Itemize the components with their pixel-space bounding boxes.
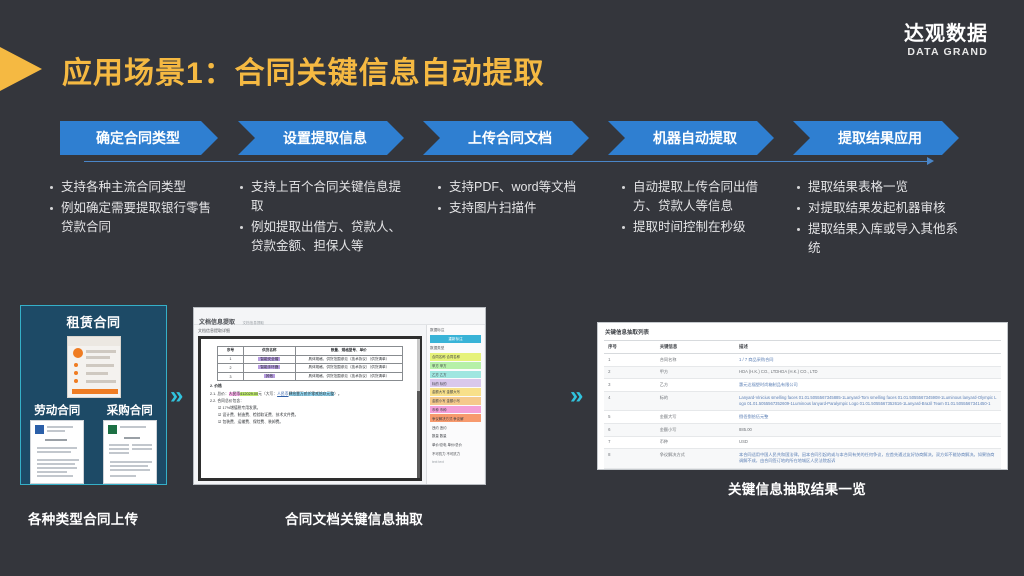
document-section-label: 文档信息提取详细	[198, 328, 422, 334]
res-cell-desc: HDA (H.K.) CO., LTDHDA (H.K.) CO., LTD	[735, 366, 1001, 379]
list-item: 支持PDF、word等文档	[436, 178, 606, 197]
logo-english: DATA GRAND	[904, 46, 988, 58]
labor-contract-thumbnail	[30, 420, 84, 484]
res-th-key: 关键信息	[656, 341, 735, 354]
document-viewer[interactable]: 文档信息提取详细 序号 供货名称 数量、规格型号、单价 1	[194, 325, 426, 485]
doc-item-3: ☑ 包装费、运输费、保险费、装卸费。	[218, 420, 411, 426]
doc-cell-no: 3	[218, 372, 244, 381]
process-axis-line	[84, 161, 929, 162]
document-goods-table: 序号 供货名称 数量、规格型号、单价 1 智能安全帽 具体规格、供货范围参见（技…	[217, 346, 403, 381]
doc-ul-currency: 人民币	[277, 392, 288, 396]
list-item: 例如确定需要提取银行零售贷款合同	[48, 199, 213, 237]
doc-cell-spec: 具体规格、供货范围参见（技术协议）（供货清单）	[295, 372, 402, 381]
doc-thumbnails	[21, 420, 166, 484]
lease-contract-label: 租赁合同	[21, 312, 166, 331]
bullet-column-5: 提取结果表格一览 对提取结果发起机器审核 提取结果入库或导入其他系统	[795, 178, 960, 260]
list-item: 支持上百个合同关键信息提取	[238, 178, 403, 216]
doc-cell-name: 智能安全帽	[243, 355, 295, 364]
res-cell-desc: USD	[735, 436, 1001, 449]
doc-price-line: 2.1. 总价：人民币412029.00元（大写：人民币肆拾壹万贰仟零贰拾玖元整…	[210, 392, 411, 398]
table-row: 3乙方惠元达福塑时尚箱制品有限公司	[604, 379, 1001, 392]
document-scrollbar-thumb[interactable]	[417, 339, 420, 391]
table-row: 8争议解决方式本合同适用中国人民共和国法律。因本合同引起的或与本合同有关的任何争…	[604, 449, 1001, 468]
table-row: 3 其他 具体规格、供货范围参见（技术协议）（供货清单）	[218, 372, 403, 381]
label-chip[interactable]: 数量 数量	[430, 432, 481, 440]
process-step-4[interactable]: 机器自动提取	[608, 121, 774, 155]
logo-chinese: 达观数据	[904, 24, 988, 45]
res-cell-desc: 本合同适用中国人民共和国法律。因本合同引起的或与本合同有关的任何争议，应首先通过…	[735, 449, 1001, 468]
bullet-column-3: 支持PDF、word等文档 支持图片扫描件	[436, 178, 606, 220]
label-chip[interactable]: text text	[430, 458, 481, 465]
res-cell-key: 币种	[656, 436, 735, 449]
table-row: 5金额大写捌佰捌拾伍元整	[604, 411, 1001, 424]
table-row: 1合同名称1 / 7 商品采购合同	[604, 354, 1001, 367]
document-canvas[interactable]: 序号 供货名称 数量、规格型号、单价 1 智能安全帽 具体规格、供货范围参见（技…	[198, 336, 422, 481]
slide-root: 达观数据 DATA GRAND 应用场景1：合同关键信息自动提取 确定合同类型 …	[0, 0, 1024, 576]
list-item: 提取结果表格一览	[795, 178, 960, 197]
caption-extraction: 合同文档关键信息抽取	[285, 508, 423, 528]
lease-contract-thumbnail	[67, 336, 121, 398]
process-step-3[interactable]: 上传合同文档	[423, 121, 589, 155]
doc-price-mid: 元（大写：	[258, 392, 277, 396]
process-step-5[interactable]: 提取结果应用	[793, 121, 959, 155]
doc-hl-capital: 肆拾壹万贰仟零贰拾玖元整	[289, 392, 335, 396]
label-chip[interactable]: 乙方 乙方	[430, 371, 481, 379]
list-item: 提取结果入库或导入其他系统	[795, 220, 960, 258]
res-cell-no: 4	[604, 392, 656, 411]
res-cell-key: 争议解决方式	[656, 449, 735, 468]
doc-th-name: 供货名称	[243, 347, 295, 356]
doc-price-suffix: ）。	[334, 392, 342, 396]
results-table: 序号 关键信息 描述 1合同名称1 / 7 商品采购合同 2甲方HDA (H.K…	[604, 340, 1001, 469]
label-chip[interactable]: 币种 币种	[430, 406, 481, 414]
res-cell-key: 甲方	[656, 366, 735, 379]
doc-cell-name: 智能手环器	[243, 364, 295, 373]
res-cell-key: 乙方	[656, 379, 735, 392]
chevron-separator-2-icon: »	[570, 384, 580, 408]
label-chip[interactable]: 甲方 甲方	[430, 362, 481, 370]
list-item: 自动提取上传合同出借方、贷款人等信息	[620, 178, 780, 216]
process-step-1[interactable]: 确定合同类型	[60, 121, 218, 155]
doc-price-heading: 2. 价格	[210, 384, 411, 390]
res-cell-no: 6	[604, 423, 656, 436]
list-item: 提取时间控制在秒级	[620, 218, 780, 237]
label-chip[interactable]: 不可抗力 不可抗力	[430, 450, 481, 458]
bullet-columns: 支持各种主流合同类型 例如确定需要提取银行零售贷款合同 支持上百个合同关键信息提…	[0, 178, 1024, 288]
page-title: 应用场景1：合同关键信息自动提取	[62, 48, 545, 92]
results-title: 关键信息抽取列表	[598, 323, 1007, 340]
res-th-desc: 描述	[735, 341, 1001, 354]
res-cell-desc: 捌佰捌拾伍元整	[735, 411, 1001, 424]
res-cell-no: 2	[604, 366, 656, 379]
res-cell-desc: 885.00	[735, 423, 1001, 436]
bullet-column-1: 支持各种主流合同类型 例如确定需要提取银行零售贷款合同	[48, 178, 213, 239]
document-extraction-screenshot[interactable]: 文档信息提取 文档信息提取 文档信息提取详细 序号 供货名称 数量、规格型号、单…	[193, 307, 486, 485]
res-cell-no: 1	[604, 354, 656, 367]
contract-upload-panel[interactable]: 租赁合同 劳动合同 采购合同	[20, 305, 167, 485]
title-arrow-icon	[0, 47, 42, 91]
doc-price-prefix: 2.1. 总价：	[210, 392, 229, 396]
list-item: 支持各种主流合同类型	[48, 178, 213, 197]
table-row: 7币种USD	[604, 436, 1001, 449]
res-cell-no: 7	[604, 436, 656, 449]
table-row: 2甲方HDA (H.K.) CO., LTDHDA (H.K.) CO., LT…	[604, 366, 1001, 379]
bullet-column-2: 支持上百个合同关键信息提取 例如提取出借方、贷款人、贷款金额、担保人等	[238, 178, 403, 258]
table-row: 2 智能手环器 具体规格、供货范围参见（技术协议）（供货清单）	[218, 364, 403, 373]
purchase-contract-thumbnail	[103, 420, 157, 484]
doc-total-line: 2.2. 合同总价包含：	[210, 399, 411, 405]
data-type-label: 数据类型	[430, 346, 481, 351]
purchase-contract-label: 采购合同	[107, 402, 153, 418]
res-cell-key: 金额大写	[656, 411, 735, 424]
reannotate-button[interactable]: 重新标注	[430, 335, 481, 343]
doc-cell-name: 其他	[243, 372, 295, 381]
chevron-separator-1-icon: »	[170, 384, 180, 408]
label-chip[interactable]: 合同名称 合同名称	[430, 353, 481, 361]
res-cell-key: 合同名称	[656, 354, 735, 367]
doc-cell-no: 1	[218, 355, 244, 364]
doc-item-1: ☑ 17%增值税专用发票。	[218, 406, 411, 412]
table-row: 4标的Lanyard-Vinicius smelling faces 01.01…	[604, 392, 1001, 411]
caption-upload: 各种类型合同上传	[28, 508, 138, 528]
caption-results: 关键信息抽取结果一览	[728, 478, 866, 498]
label-chip[interactable]: 金额小写 金额小写	[430, 397, 481, 405]
label-chip[interactable]: 单价/总电 单价/总价	[430, 441, 481, 449]
list-item: 支持图片扫描件	[436, 199, 606, 218]
doc-item-2: ☑ 设计费、制造费、检验取证费、技术文件费。	[218, 413, 411, 419]
label-chip[interactable]: 金额大写 金额大写	[430, 388, 481, 396]
label-chip[interactable]: 违约 违约	[430, 423, 481, 431]
doc-cell-spec: 具体规格、供货范围参见（技术协议）（供货清单）	[295, 355, 402, 364]
process-axis-arrow-icon	[927, 157, 934, 165]
annotation-sidebar[interactable]: 数据标注 重新标注 数据类型 合同名称 合同名称 甲方 甲方 乙方 乙方 标的 …	[426, 325, 484, 485]
list-item: 例如提取出借方、贷款人、贷款金额、担保人等	[238, 218, 403, 256]
process-step-2[interactable]: 设置提取信息	[238, 121, 404, 155]
res-cell-desc: 1 / 7 商品采购合同	[735, 354, 1001, 367]
doc-type-labels: 劳动合同 采购合同	[21, 402, 166, 418]
process-steps: 确定合同类型 设置提取信息 上传合同文档 机器自动提取 提取结果应用	[60, 121, 970, 155]
res-cell-no: 5	[604, 411, 656, 424]
res-cell-no: 8	[604, 449, 656, 468]
bullet-column-4: 自动提取上传合同出借方、贷款人等信息 提取时间控制在秒级	[620, 178, 780, 239]
doc-th-no: 序号	[218, 347, 244, 356]
labor-contract-label: 劳动合同	[34, 402, 80, 418]
extraction-results-screenshot[interactable]: 关键信息抽取列表 序号 关键信息 描述 1合同名称1 / 7 商品采购合同 2甲…	[597, 322, 1008, 470]
brand-logo: 达观数据 DATA GRAND	[904, 24, 988, 58]
doc-hl-amount: 412029.00	[240, 392, 258, 396]
res-cell-key: 标的	[656, 392, 735, 411]
doc-cell-no: 2	[218, 364, 244, 373]
table-row: 1 智能安全帽 具体规格、供货范围参见（技术协议）（供货清单）	[218, 355, 403, 364]
doc-hl-currency: 人民币	[229, 392, 240, 396]
res-th-no: 序号	[604, 341, 656, 354]
doc-cell-spec: 具体规格、供货范围参见（技术协议）（供货清单）	[295, 364, 402, 373]
document-page: 序号 供货名称 数量、规格型号、单价 1 智能安全帽 具体规格、供货范围参见（技…	[201, 339, 419, 478]
annotation-title: 数据标注	[430, 328, 481, 333]
label-chip[interactable]: 争议解决方式 争议解	[430, 414, 481, 422]
res-cell-no: 3	[604, 379, 656, 392]
label-chip[interactable]: 标的 标的	[430, 379, 481, 387]
res-cell-key: 金额小写	[656, 423, 735, 436]
table-row: 6金额小写885.00	[604, 423, 1001, 436]
res-cell-desc: Lanyard-Vinicius smelling faces 01.01.50…	[735, 392, 1001, 411]
doc-th-spec: 数量、规格型号、单价	[295, 347, 402, 356]
res-cell-desc: 惠元达福塑时尚箱制品有限公司	[735, 379, 1001, 392]
list-item: 对提取结果发起机器审核	[795, 199, 960, 218]
mid-panel-header: 文档信息提取 文档信息提取	[194, 308, 485, 325]
